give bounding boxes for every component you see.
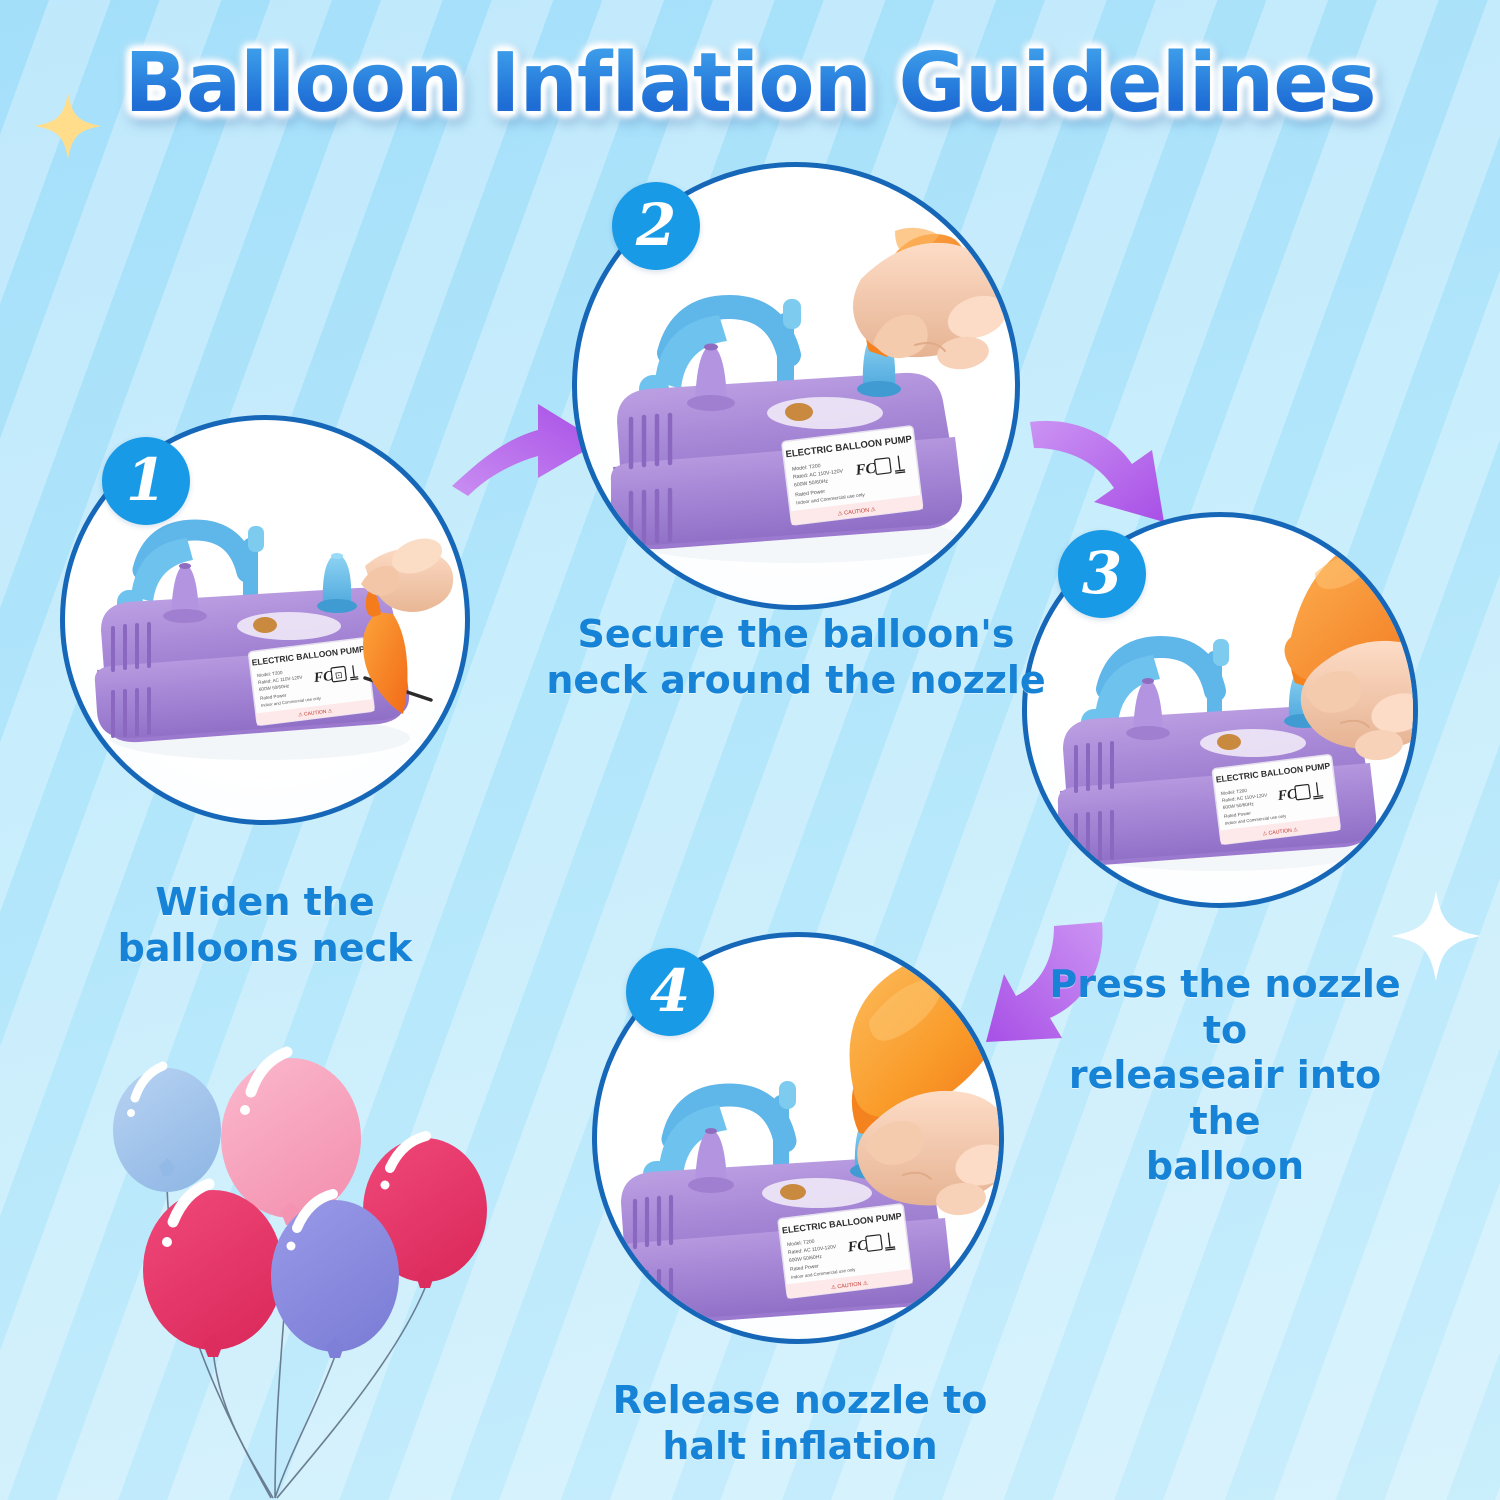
svg-text:FC: FC: [854, 460, 878, 479]
step-3-number: 3: [1082, 544, 1122, 602]
step-2[interactable]: ELECTRIC BALLOON PUMP Model: T200 Rated:…: [572, 162, 1020, 610]
step-1[interactable]: ELECTRIC BALLOON PUMP Model: T200 Rated:…: [60, 415, 470, 825]
svg-text:⊡: ⊡: [334, 670, 343, 681]
step-3-badge: 3: [1058, 530, 1146, 618]
step-4-badge: 4: [626, 948, 714, 1036]
step-1-caption: Widen the balloons neck: [70, 880, 460, 971]
step-3-caption: Press the nozzle to releaseair into the …: [1030, 962, 1420, 1190]
page-title: Balloon Inflation Guidelines: [124, 36, 1375, 131]
balloon-light-blue: [113, 1066, 221, 1192]
step-2-caption: Secure the balloon's neck around the noz…: [546, 612, 1046, 703]
step-4-number: 4: [650, 962, 690, 1020]
arrow-step2-to-step3-icon: [1028, 398, 1198, 528]
page-header: Balloon Inflation Guidelines: [0, 36, 1500, 131]
balloon-bouquet: [95, 1020, 515, 1500]
step-1-badge: 1: [102, 437, 190, 525]
step-4-caption: Release nozzle to halt inflation: [580, 1378, 1020, 1469]
step-2-badge: 2: [612, 182, 700, 270]
step-1-number: 1: [126, 451, 166, 509]
step-3[interactable]: ELECTRIC BALLOON PUMP Model: T200 Rated:…: [1022, 512, 1418, 908]
step-4[interactable]: ELECTRIC BALLOON PUMP Model: T200 Rated:…: [592, 932, 1004, 1344]
svg-text:FC: FC: [846, 1237, 868, 1255]
step-2-number: 2: [636, 196, 676, 254]
